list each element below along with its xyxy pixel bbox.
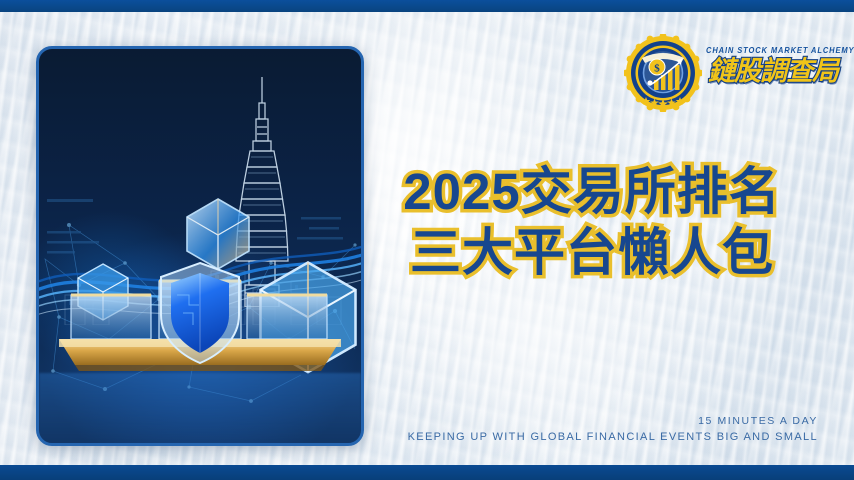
bottom-accent-bar: [0, 465, 854, 480]
headline-block: 2025交易所排名 三大平台懶人包: [382, 163, 802, 281]
brand-name-cn: 鏈股調查局: [706, 57, 840, 85]
tagline-line-1: 15 MINUTES A DAY: [408, 415, 818, 427]
seal-badge-icon: $: [624, 34, 702, 112]
security-shield-icon: [157, 261, 243, 365]
brand-logo[interactable]: $ CHAIN STOCK MARKET ALCHEMY 鏈股調查局: [620, 30, 840, 116]
poster-canvas: $ CHAIN STOCK MARKET ALCHEMY 鏈股調查局 2025交…: [0, 0, 854, 480]
top-accent-bar: [0, 0, 854, 12]
brand-text-block: CHAIN STOCK MARKET ALCHEMY 鏈股調查局: [706, 46, 840, 85]
tagline-block: 15 MINUTES A DAY KEEPING UP WITH GLOBAL …: [408, 415, 818, 443]
brand-name-en: CHAIN STOCK MARKET ALCHEMY: [706, 46, 840, 55]
hero-image-panel: [36, 46, 364, 446]
floor-reflection: [39, 373, 361, 443]
headline-line-2: 三大平台懶人包: [382, 224, 802, 281]
headline-line-1: 2025交易所排名: [382, 163, 802, 220]
svg-text:$: $: [654, 63, 660, 75]
tagline-line-2: KEEPING UP WITH GLOBAL FINANCIAL EVENTS …: [408, 431, 818, 443]
